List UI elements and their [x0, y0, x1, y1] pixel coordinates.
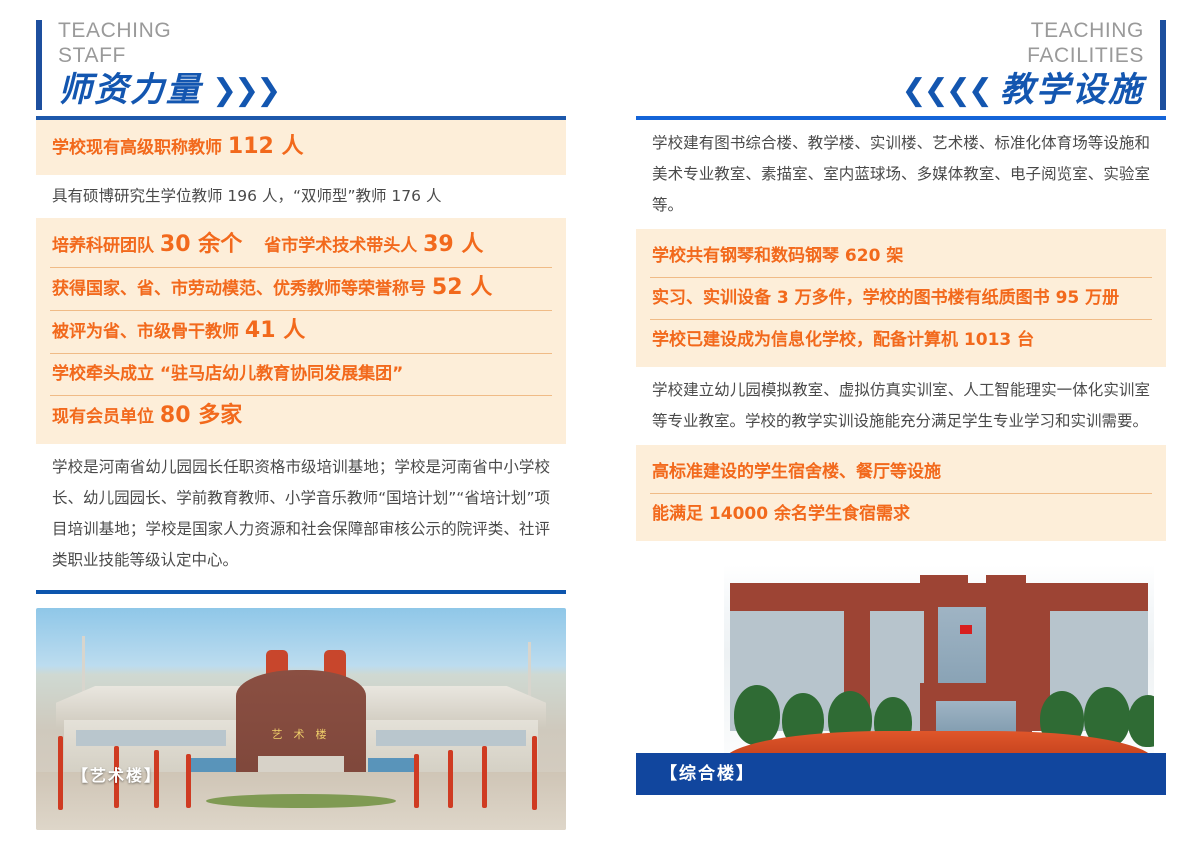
- left-header: TEACHING STAFF 师资力量 ❯❯❯: [36, 0, 566, 110]
- left-highlight-text: 现有会员单位 80 多家: [52, 404, 552, 429]
- right-paragraph-2: 学校建立幼儿园模拟教室、虚拟仿真实训室、人工智能理实一体化实训室等专业教室。学校…: [636, 367, 1166, 445]
- left-highlight-text: 学校现有高级职称教师 112 人: [52, 135, 552, 160]
- left-highlight-number-2: 39 人: [423, 232, 483, 257]
- left-highlight-text: 被评为省、市级骨干教师 41 人: [52, 319, 552, 344]
- right-header-title-row: ❮❮❮❮ 教学设施: [636, 70, 1144, 110]
- right-highlight-box-2: 高标准建设的学生宿舍楼、餐厅等设施 能满足 14000 余名学生食宿需求: [636, 445, 1166, 541]
- left-highlight-number: 112 人: [228, 134, 304, 159]
- left-header-english-line2: STAFF: [58, 43, 566, 68]
- photo-lawn: [206, 794, 396, 808]
- right-header-accent-bar: [1160, 20, 1166, 110]
- right-highlight-text: 实习、实训设备 3 万多件，学校的图书楼有纸质图书 95 万册: [652, 286, 1152, 310]
- left-header-english-line1: TEACHING: [58, 19, 171, 42]
- right-highlight-row: 学校已建设成为信息化学校，配备计算机 1013 台: [636, 319, 1166, 361]
- right-highlight-text: 能满足 14000 余名学生食宿需求: [652, 502, 1152, 526]
- left-highlight-number: 80 多家: [160, 403, 242, 428]
- poster-page: TEACHING STAFF 师资力量 ❯❯❯ 学校现有高级职称教师 112 人…: [0, 0, 1200, 867]
- right-highlight-row: 能满足 14000 余名学生食宿需求: [636, 493, 1166, 535]
- left-highlight-row: 被评为省、市级骨干教师 41 人: [36, 310, 566, 353]
- left-header-chinese-title: 师资力量: [58, 70, 202, 110]
- left-highlight-row: 学校牵头成立 “驻马店幼儿教育协同发展集团”: [36, 353, 566, 395]
- right-column: TEACHING FACILITIES ❮❮❮❮ 教学设施 学校建有图书综合楼、…: [636, 0, 1166, 867]
- right-highlight-box-1: 学校共有钢琴和数码钢琴 620 架 实习、实训设备 3 万多件，学校的图书楼有纸…: [636, 229, 1166, 367]
- right-highlight-text: 高标准建设的学生宿舍楼、餐厅等设施: [652, 460, 1152, 484]
- right-header-english-line2: FACILITIES: [636, 43, 1144, 68]
- right-highlight-text: 学校共有钢琴和数码钢琴 620 架: [652, 244, 1152, 268]
- right-header-english: TEACHING FACILITIES: [636, 18, 1144, 68]
- right-photo-caption: 【综合楼】: [660, 759, 755, 784]
- right-highlight-text: 学校已建设成为信息化学校，配备计算机 1013 台: [652, 328, 1152, 352]
- left-header-accent-bar: [36, 20, 42, 110]
- right-photo-wrap: 【综合楼】: [636, 559, 1166, 809]
- right-highlight-row: 实习、实训设备 3 万多件，学校的图书楼有纸质图书 95 万册: [636, 277, 1166, 319]
- left-highlight-row: 获得国家、省、市劳动模范、优秀教师等荣誉称号 52 人: [36, 267, 566, 310]
- left-header-title-row: 师资力量 ❯❯❯: [58, 70, 566, 110]
- left-highlight-text: 学校牵头成立 “驻马店幼儿教育协同发展集团”: [52, 362, 552, 386]
- left-highlight-label: 获得国家、省、市劳动模范、优秀教师等荣誉称号: [52, 279, 432, 299]
- left-highlight-box-2: 培养科研团队 30 余个省市学术技术带头人 39 人 获得国家、省、市劳动模范、…: [36, 218, 566, 444]
- chevron-right-icon: ❯❯❯: [212, 73, 278, 108]
- chevron-left-icon: ❮❮❮❮: [901, 73, 990, 108]
- left-paragraph-2: 学校是河南省幼儿园园长任职资格市级培训基地；学校是河南省中小学校长、幼儿园园长、…: [36, 444, 566, 584]
- left-highlight-text: 培养科研团队 30 余个省市学术技术带头人 39 人: [52, 233, 552, 258]
- left-highlight-label: 培养科研团队: [52, 236, 160, 256]
- left-photo-caption: 【艺术楼】: [72, 762, 162, 786]
- left-bottom-rule: [36, 590, 566, 594]
- left-highlight-text: 获得国家、省、市劳动模范、优秀教师等荣誉称号 52 人: [52, 276, 552, 301]
- left-highlight-number: 41 人: [245, 318, 305, 343]
- left-highlight-row: 现有会员单位 80 多家: [36, 395, 566, 438]
- left-highlight-number: 30 余个: [160, 232, 242, 257]
- left-highlight-number: 52 人: [432, 275, 492, 300]
- left-highlight-label: 被评为省、市级骨干教师: [52, 322, 245, 342]
- right-header-english-line1: TEACHING: [1031, 19, 1144, 42]
- right-paragraph-1: 学校建有图书综合楼、教学楼、实训楼、艺术楼、标准化体育场等设施和美术专业教室、素…: [636, 120, 1166, 229]
- left-paragraph-1: 具有硕博研究生学位教师 196 人，“双师型”教师 176 人: [36, 175, 566, 218]
- right-header: TEACHING FACILITIES ❮❮❮❮ 教学设施: [636, 0, 1166, 110]
- right-content: 学校建有图书综合楼、教学楼、实训楼、艺术楼、标准化体育场等设施和美术专业教室、素…: [636, 120, 1166, 809]
- left-highlight-row: 学校现有高级职称教师 112 人: [36, 126, 566, 169]
- left-highlight-label-2: 省市学术技术带头人: [264, 236, 423, 256]
- left-content: 学校现有高级职称教师 112 人 具有硕博研究生学位教师 196 人，“双师型”…: [36, 120, 566, 830]
- left-highlight-row: 培养科研团队 30 余个省市学术技术带头人 39 人: [36, 224, 566, 267]
- left-column: TEACHING STAFF 师资力量 ❯❯❯ 学校现有高级职称教师 112 人…: [36, 0, 566, 867]
- photo-building-sign: 艺 术 楼: [250, 726, 352, 742]
- left-highlight-box-1: 学校现有高级职称教师 112 人: [36, 120, 566, 175]
- right-header-chinese-title: 教学设施: [1000, 70, 1144, 110]
- right-highlight-row: 学校共有钢琴和数码钢琴 620 架: [636, 235, 1166, 277]
- left-photo-wrap: 艺 术 楼 【艺术楼】: [36, 608, 566, 830]
- art-building-photo: 艺 术 楼: [36, 608, 566, 830]
- left-highlight-label: 现有会员单位: [52, 407, 160, 427]
- left-header-english: TEACHING STAFF: [58, 18, 566, 68]
- right-highlight-row: 高标准建设的学生宿舍楼、餐厅等设施: [636, 451, 1166, 493]
- left-highlight-label: 学校牵头成立 “驻马店幼儿教育协同发展集团”: [52, 364, 403, 384]
- left-highlight-label: 学校现有高级职称教师: [52, 138, 228, 158]
